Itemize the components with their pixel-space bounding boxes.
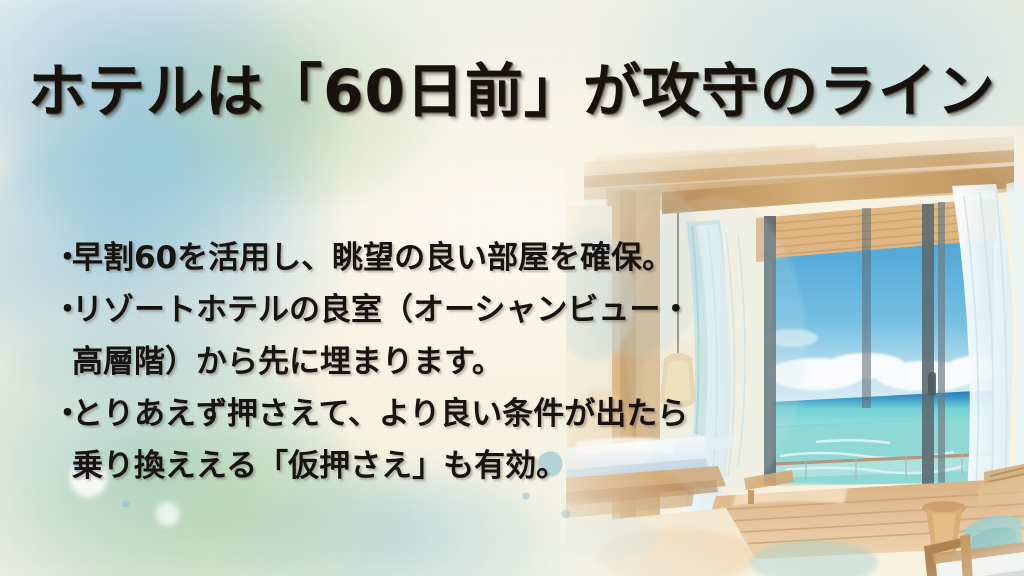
bullet-list: ・ 早割60を活用し、眺望の良い部屋を確保。 ・ リゾートホテルの良室（オーシャ… xyxy=(52,232,672,492)
page-title: ホテルは「60日前」が攻守のライン xyxy=(0,44,1024,128)
list-item-continuation: ・ 高層階）から先に埋まります。 xyxy=(52,336,672,388)
list-item-text: とりあえず押さえて、より良い条件が出たら xyxy=(72,388,688,440)
list-item-text: 高層階）から先に埋まります。 xyxy=(72,336,503,388)
list-item: ・ リゾートホテルの良室（オーシャンビュー・ xyxy=(52,284,672,336)
list-item-text: リゾートホテルの良室（オーシャンビュー・ xyxy=(72,284,691,336)
bullet-marker-icon: ・ xyxy=(52,284,72,336)
list-item: ・ 早割60を活用し、眺望の良い部屋を確保。 xyxy=(52,232,672,284)
list-item: ・ とりあえず押さえて、より良い条件が出たら xyxy=(52,388,672,440)
bullet-marker-icon: ・ xyxy=(52,388,72,440)
list-item-text: 乗り換ええる「仮押さえ」も有効。 xyxy=(72,440,567,492)
slide-canvas: ホテルは「60日前」が攻守のライン ・ 早割60を活用し、眺望の良い部屋を確保。… xyxy=(0,0,1024,576)
list-item-continuation: ・ 乗り換ええる「仮押さえ」も有効。 xyxy=(52,440,672,492)
list-item-text: 早割60を活用し、眺望の良い部屋を確保。 xyxy=(72,232,673,284)
bullet-marker-icon: ・ xyxy=(52,232,72,284)
